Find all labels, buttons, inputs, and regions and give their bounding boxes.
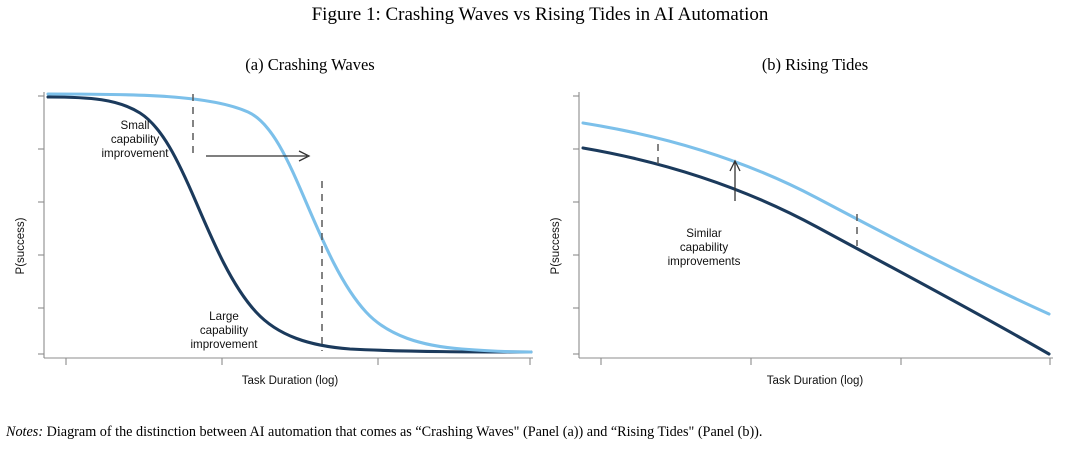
svg-text:improvement: improvement — [101, 147, 169, 160]
panel-b-annotation-similar: Similar capability improvements — [668, 227, 741, 268]
svg-text:improvements: improvements — [668, 255, 741, 268]
svg-text:Large: Large — [209, 310, 239, 323]
panel-a-annotation-large: Large capability improvement — [190, 310, 258, 351]
panel-a-plot: P(success) — [10, 86, 555, 396]
panel-a-xlabel-text: Task Duration (log) — [242, 375, 339, 387]
panel-b-gain-arrow — [730, 161, 740, 201]
panel-b-xlabel-text: Task Duration (log) — [767, 375, 864, 387]
svg-text:capability: capability — [680, 241, 729, 254]
figure-container: Figure 1: Crashing Waves vs Rising Tides… — [0, 0, 1080, 453]
notes: Notes: Diagram of the distinction betwee… — [6, 424, 1076, 442]
panel-b-x-ticks — [601, 358, 1050, 365]
panel-b-y-ticks — [573, 96, 579, 354]
panel-b-curve-baseline — [583, 148, 1049, 354]
figure-title: Figure 1: Crashing Waves vs Rising Tides… — [0, 4, 1080, 26]
svg-text:Small: Small — [121, 119, 150, 132]
notes-label: Notes: — [6, 424, 43, 440]
panel-b-curve-improved — [583, 123, 1049, 314]
panel-a-x-ticks — [66, 358, 530, 365]
panel-a-title: (a) Crashing Waves — [60, 55, 560, 75]
panel-a-shift-arrow — [206, 151, 309, 161]
svg-text:capability: capability — [200, 324, 249, 337]
svg-text:improvement: improvement — [190, 338, 258, 351]
svg-text:Similar: Similar — [686, 227, 722, 240]
panel-b-plot: P(success) — [545, 86, 1075, 396]
svg-text:capability: capability — [111, 133, 160, 146]
notes-text: Diagram of the distinction between AI au… — [47, 424, 763, 440]
panel-b-title: (b) Rising Tides — [575, 55, 1055, 75]
panel-b-ylabel-text: P(success) — [550, 217, 562, 274]
panel-a-y-ticks — [38, 96, 44, 354]
panel-a-ylabel-text: P(success) — [15, 217, 27, 274]
panel-a-annotation-small: Small capability improvement — [101, 119, 169, 160]
